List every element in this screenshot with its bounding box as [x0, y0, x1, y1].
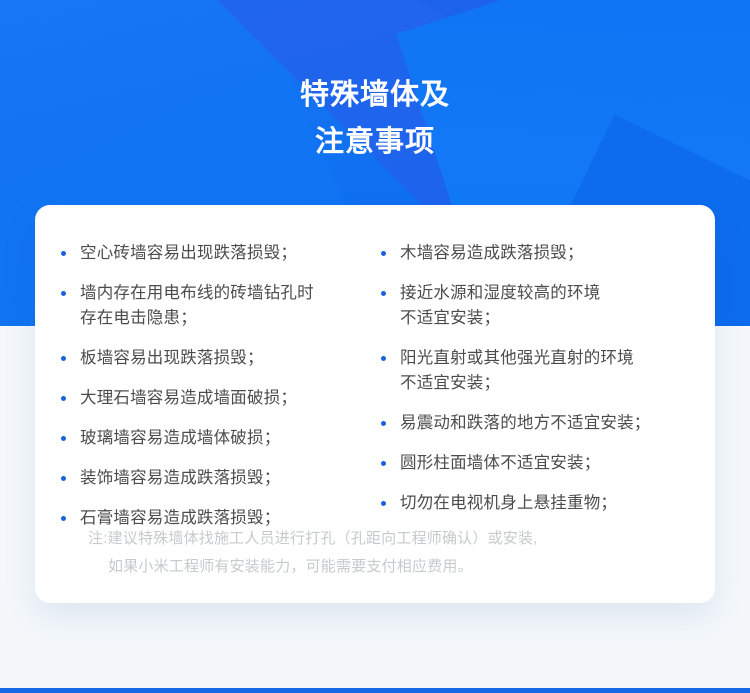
- list-item: 接近水源和湿度较高的环境 不适宜安装；: [373, 281, 715, 331]
- list-item: 墙内存在用电布线的砖墙钻孔时 存在电击隐患；: [53, 281, 365, 331]
- list-item: 装饰墙容易造成跌落损毁；: [53, 466, 365, 491]
- bottom-accent-strip: [0, 688, 750, 693]
- list-item: 大理石墙容易造成墙面破损；: [53, 386, 365, 411]
- footnote-line-1: 注:建议特殊墙体找施工人员进行打孔（孔距向工程师确认）或安装,: [88, 530, 538, 547]
- list-item: 易震动和跌落的地方不适宜安装；: [373, 411, 715, 436]
- bullet-columns: 空心砖墙容易出现跌落损毁； 墙内存在用电布线的砖墙钻孔时 存在电击隐患； 板墙容…: [35, 241, 715, 546]
- page-title-line-1: 特殊墙体及: [0, 72, 750, 119]
- footnote: 注:建议特殊墙体找施工人员进行打孔（孔距向工程师确认）或安装, 如果小米工程师有…: [88, 525, 688, 581]
- footnote-line-2: 如果小米工程师有安装能力，可能需要支付相应费用。: [88, 553, 688, 581]
- page-title: 特殊墙体及 注意事项: [0, 72, 750, 166]
- list-item: 玻璃墙容易造成墙体破损；: [53, 426, 365, 451]
- left-column: 空心砖墙容易出现跌落损毁； 墙内存在用电布线的砖墙钻孔时 存在电击隐患； 板墙容…: [35, 241, 365, 546]
- list-item: 切勿在电视机身上悬挂重物；: [373, 491, 715, 516]
- right-bullet-list: 木墙容易造成跌落损毁； 接近水源和湿度较高的环境 不适宜安装； 阳光直射或其他强…: [373, 241, 715, 516]
- list-item: 空心砖墙容易出现跌落损毁；: [53, 241, 365, 266]
- content-card: 空心砖墙容易出现跌落损毁； 墙内存在用电布线的砖墙钻孔时 存在电击隐患； 板墙容…: [35, 205, 715, 603]
- page-title-line-2: 注意事项: [0, 119, 750, 166]
- list-item: 圆形柱面墙体不适宜安装；: [373, 451, 715, 476]
- list-item: 板墙容易出现跌落损毁；: [53, 346, 365, 371]
- right-column: 木墙容易造成跌落损毁； 接近水源和湿度较高的环境 不适宜安装； 阳光直射或其他强…: [365, 241, 715, 546]
- list-item: 木墙容易造成跌落损毁；: [373, 241, 715, 266]
- list-item: 阳光直射或其他强光直射的环境 不适宜安装；: [373, 346, 715, 396]
- page-root: 特殊墙体及 注意事项 空心砖墙容易出现跌落损毁； 墙内存在用电布线的砖墙钻孔时 …: [0, 0, 750, 693]
- left-bullet-list: 空心砖墙容易出现跌落损毁； 墙内存在用电布线的砖墙钻孔时 存在电击隐患； 板墙容…: [53, 241, 365, 531]
